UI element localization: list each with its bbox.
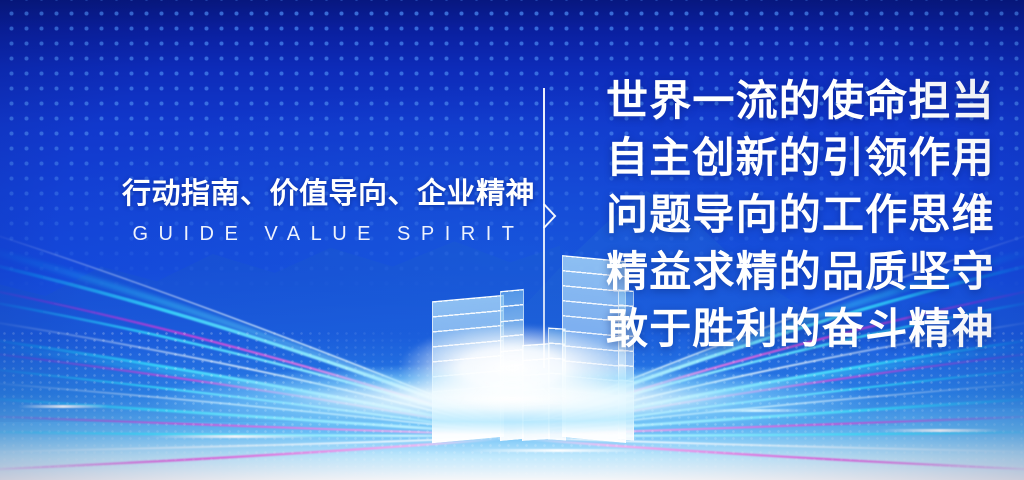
value-line-2: 自主创新的引领作用 [606, 129, 995, 186]
value-line-1: 世界一流的使命担当 [606, 72, 995, 129]
chevron-right-glyph [543, 203, 557, 229]
right-text-block: 世界一流的使命担当 自主创新的引领作用 问题导向的工作思维 精益求精的品质坚守 … [606, 72, 995, 357]
left-text-block: 行动指南、价值导向、企业精神 GUIDE VALUE SPIRIT [122, 176, 502, 246]
value-line-4: 精益求精的品质坚守 [606, 243, 995, 300]
value-line-5: 敢于胜利的奋斗精神 [606, 300, 995, 357]
floor-light-line [468, 449, 648, 452]
left-headline-cn: 行动指南、价值导向、企业精神 [122, 176, 502, 212]
value-line-3: 问题导向的工作思维 [606, 186, 995, 243]
values-banner: 行动指南、价值导向、企业精神 GUIDE VALUE SPIRIT 世界一流的使… [0, 0, 1024, 480]
chevron-right-icon [543, 203, 557, 229]
left-subhead-en: GUIDE VALUE SPIRIT [122, 223, 502, 246]
